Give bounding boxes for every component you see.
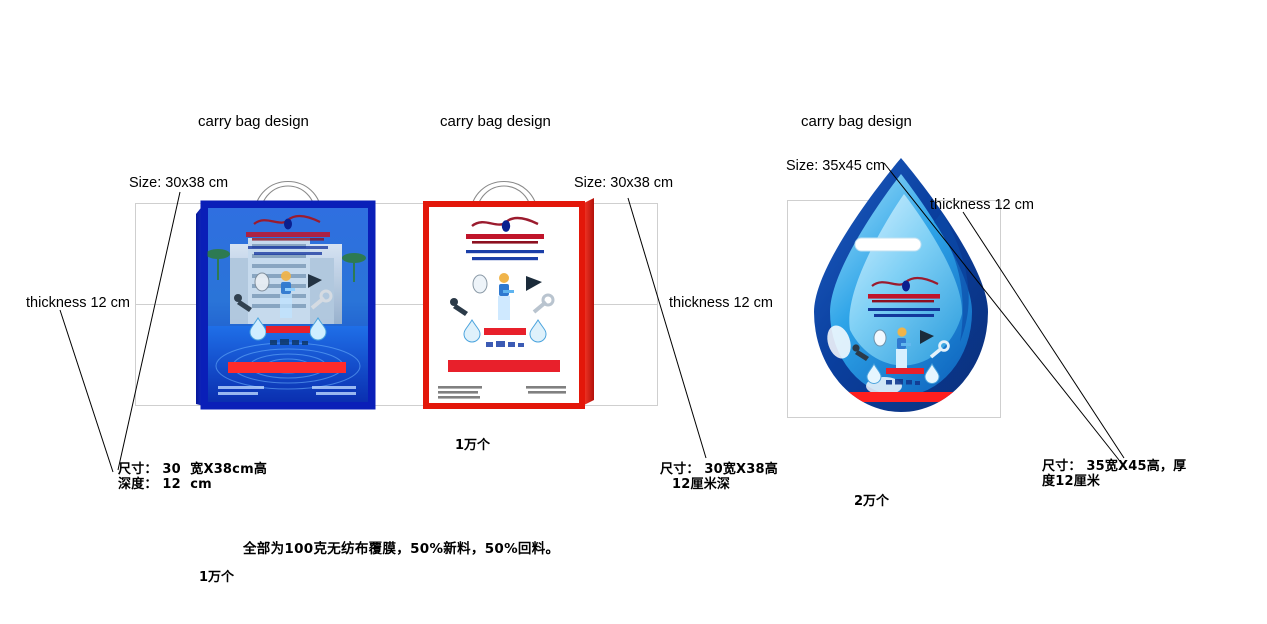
- bag-design-3: [792, 152, 1010, 420]
- size-label-2: Size: 30x38 cm: [574, 175, 673, 191]
- bag-1-artwork: [196, 158, 376, 410]
- leader-line-size-1: [118, 192, 180, 470]
- bag-3-slogan-ar: [886, 368, 924, 374]
- bag-2-sub-ar-2: [472, 257, 538, 260]
- title-bag-2: carry bag design: [440, 113, 551, 130]
- quantity-bottom: 1万个: [199, 566, 234, 585]
- spec-text-1: 尺寸： 30 宽X38cm高深度： 12 cm: [118, 462, 267, 492]
- drawing-sheet: carry bag design carry bag design carry …: [0, 0, 1267, 624]
- bag-3-footer-contacts: [846, 414, 950, 416]
- spec-text-2: 尺寸： 30宽X38高12厘米深: [660, 462, 778, 492]
- bag-2-ministry-en: [472, 241, 538, 244]
- bag-1-slogan-ar: [266, 326, 310, 333]
- quantity-bag-2: 1万个: [455, 434, 490, 453]
- spec-line-1a: 尺寸： 30 宽X38cm高: [118, 462, 267, 477]
- bag-1-ministry-ar: [246, 232, 330, 237]
- thickness-label-1: thickness 12 cm: [26, 295, 130, 311]
- leader-line-thickness-1: [60, 310, 113, 472]
- leader-lines-layer: [0, 0, 1267, 624]
- bag-3-artwork: [792, 152, 1010, 420]
- bag-design-2: [422, 158, 602, 410]
- title-bag-3: carry bag design: [801, 113, 912, 130]
- bag-1-sub-ar-2: [254, 252, 322, 255]
- bag-design-1: [196, 158, 376, 410]
- size-label-1: Size: 30x38 cm: [129, 175, 228, 191]
- size-label-3: Size: 35x45 cm: [786, 158, 885, 174]
- bag-3-die-cut-handle: [855, 238, 921, 251]
- spec-text-3: 尺寸： 35宽X45高，厚度12厘米: [1042, 459, 1186, 489]
- spec-line-3b: 度12厘米: [1042, 474, 1100, 489]
- bag-1-ministry-en: [252, 238, 324, 241]
- bag-2-slogan-ar: [484, 328, 526, 335]
- spec-line-2a: 尺寸： 30宽X38高: [660, 462, 778, 477]
- bag-2-artwork: [422, 158, 602, 410]
- material-note: 全部为100克无纺布覆膜，50%新料，50%回料。: [243, 537, 559, 557]
- bag-2-sub-ar-1: [466, 250, 544, 253]
- bag-2-ministry-ar: [466, 234, 544, 239]
- spec-line-2b: 12厘米深: [672, 477, 730, 492]
- bag-1-sub-ar-1: [248, 246, 328, 249]
- title-bag-1: carry bag design: [198, 113, 309, 130]
- bag-1-headline-ar: [228, 362, 346, 373]
- thickness-label-2: thickness 12 cm: [669, 295, 773, 311]
- spec-line-1b: 深度： 12 cm: [118, 477, 212, 492]
- spec-line-3a: 尺寸： 35宽X45高，厚: [1042, 459, 1186, 474]
- bag-3-sub-ar-1: [868, 308, 940, 311]
- bag-2-headline-ar: [448, 360, 560, 372]
- leader-line-size-2: [628, 198, 706, 458]
- bag-3-sub-ar-2: [874, 314, 934, 317]
- guide-boxes-layer: [0, 0, 1267, 624]
- bag-3-headline-ar: [840, 392, 964, 402]
- quantity-bag-3: 2万个: [854, 490, 889, 509]
- bag-3-ministry-en: [872, 300, 934, 302]
- bag-3-ministry-ar: [868, 294, 940, 299]
- thickness-label-3: thickness 12 cm: [930, 197, 1034, 213]
